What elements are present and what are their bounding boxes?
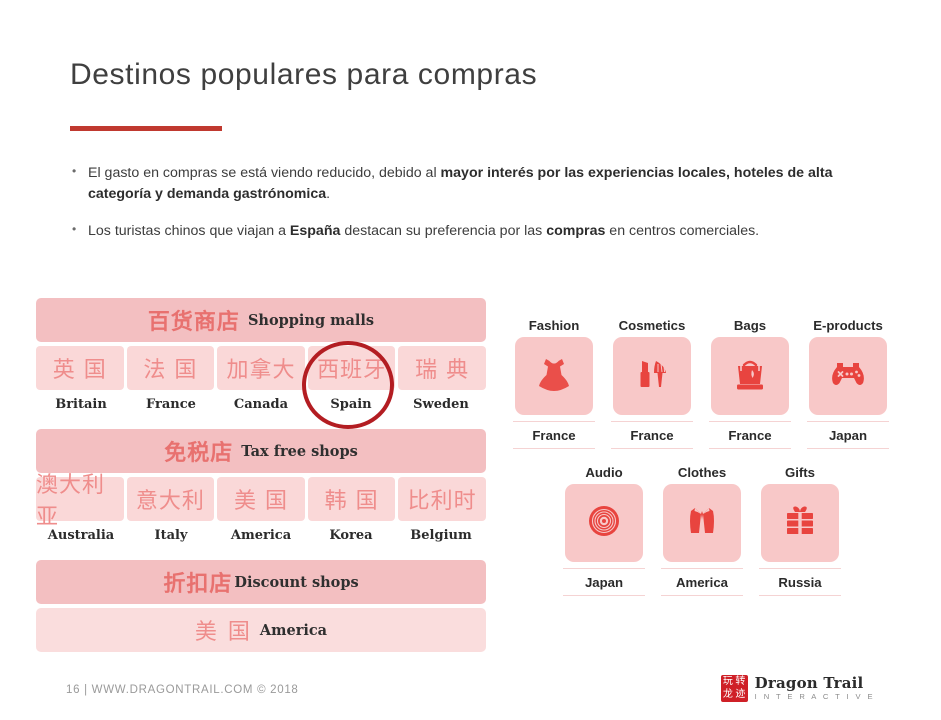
bag-icon	[727, 353, 773, 399]
dress-icon	[531, 353, 577, 399]
product-card-row-1: Fashion 时装商店 France Cosmetics	[505, 318, 935, 449]
cosmetics-icon	[629, 353, 675, 399]
bullet-bold-part: España	[290, 223, 340, 239]
row-spacer	[36, 412, 486, 429]
section-header-discount-shops: 折扣店 Discount shops	[36, 560, 486, 604]
section-header-cn: 百货商店	[148, 304, 240, 336]
section-header-shopping-malls: 百货商店 Shopping malls	[36, 298, 486, 342]
product-card-country: Russia	[759, 568, 841, 596]
product-card-country: America	[661, 568, 743, 596]
section-header-en: Tax free shops	[241, 443, 358, 460]
vinyl-record-icon	[581, 500, 627, 546]
country-label: Belgium	[396, 528, 486, 543]
discount-country-cn: 美 国	[195, 614, 252, 646]
discount-country-cell: 美 国 America	[36, 608, 486, 652]
gamepad-icon	[825, 353, 871, 399]
suit-icon	[679, 500, 725, 546]
title-accent-rule	[70, 126, 222, 131]
dragon-trail-seal-icon: 玩 转 龙 迹	[721, 675, 748, 702]
country-cell: 美 国	[217, 477, 305, 521]
product-card-title: Bags	[701, 318, 799, 333]
seal-char: 龙	[723, 690, 733, 700]
product-card-tile	[515, 337, 593, 415]
product-card-title: Clothes	[653, 465, 751, 480]
section-header-cn: 免税店	[164, 435, 233, 467]
product-card-e-products[interactable]: E-products 电子设备店 Japan	[799, 318, 897, 449]
country-cell: 法 国	[127, 346, 215, 390]
product-category-cards: Fashion 时装商店 France Cosmetics	[505, 318, 935, 596]
country-label-row: Australia Italy America Korea Belgium	[36, 528, 486, 543]
country-cell-row: 英 国 法 国 加拿大 西班牙 瑞 典	[36, 346, 486, 390]
product-card-tile	[809, 337, 887, 415]
country-label: Canada	[216, 397, 306, 412]
section-header-en: Shopping malls	[248, 312, 374, 329]
bullet-item: Los turistas chinos que viajan a España …	[70, 221, 870, 242]
bullet-item: El gasto en compras se está viendo reduc…	[70, 163, 870, 204]
bullet-text-part: .	[326, 186, 330, 202]
bullet-list: El gasto en compras se está viendo reduc…	[70, 163, 870, 259]
bullet-text-part: El gasto en compras se está viendo reduc…	[88, 165, 441, 181]
product-card-gifts[interactable]: Gifts 礼品 Russia	[751, 465, 849, 596]
shopping-destinations-table: 百货商店 Shopping malls 英 国 法 国 加拿大 西班牙 瑞 典 …	[36, 298, 486, 652]
company-logo: 玩 转 龙 迹 Dragon Trail I N T E R A C T I V…	[721, 675, 875, 702]
logo-tagline: I N T E R A C T I V E	[755, 693, 875, 701]
country-label-highlighted: Spain	[306, 397, 396, 412]
country-label: Australia	[36, 528, 126, 543]
bullet-text-part: Los turistas chinos que viajan a	[88, 223, 290, 239]
discount-country-en: America	[260, 622, 327, 639]
seal-char: 迹	[735, 690, 745, 700]
product-card-country: France	[513, 421, 595, 449]
country-cell: 澳大利亚	[36, 477, 124, 521]
product-card-tile	[663, 484, 741, 562]
bullet-text-part: en centros comerciales.	[605, 223, 759, 239]
country-cell: 加拿大	[217, 346, 305, 390]
country-cell-highlighted: 西班牙	[308, 346, 396, 390]
product-card-country: France	[611, 421, 693, 449]
product-card-bags[interactable]: Bags 箱包皮具店 France	[701, 318, 799, 449]
country-label: Korea	[306, 528, 396, 543]
seal-char: 玩	[723, 677, 733, 687]
product-card-title: Fashion	[505, 318, 603, 333]
product-card-tile	[711, 337, 789, 415]
country-cell: 瑞 典	[398, 346, 486, 390]
country-label: France	[126, 397, 216, 412]
bullet-bold-part: compras	[546, 223, 605, 239]
product-card-title: Gifts	[751, 465, 849, 480]
product-card-title: E-products	[799, 318, 897, 333]
product-card-cosmetics[interactable]: Cosmetics 化妆品店 France	[603, 318, 701, 449]
product-card-country: Japan	[563, 568, 645, 596]
gift-icon	[777, 500, 823, 546]
row-spacer	[36, 543, 486, 560]
logo-name: Dragon Trail	[755, 676, 875, 692]
country-label: Italy	[126, 528, 216, 543]
country-label: Britain	[36, 397, 126, 412]
country-cell: 韩 国	[308, 477, 396, 521]
product-card-tile	[613, 337, 691, 415]
bullet-text-part: destacan su preferencia por las	[340, 223, 546, 239]
product-card-audio[interactable]: Audio 音像制品 Japan	[555, 465, 653, 596]
product-card-title: Audio	[555, 465, 653, 480]
country-label-row: Britain France Canada Spain Sweden	[36, 397, 486, 412]
product-card-row-2: Audio 音像制品 Japan Clothes	[505, 465, 935, 596]
country-cell: 意大利	[127, 477, 215, 521]
product-card-tile	[761, 484, 839, 562]
product-card-fashion[interactable]: Fashion 时装商店 France	[505, 318, 603, 449]
country-cell: 比利时	[398, 477, 486, 521]
product-card-country: Japan	[807, 421, 889, 449]
page-title: Destinos populares para compras	[70, 58, 537, 92]
seal-char: 转	[735, 677, 745, 687]
product-card-country: France	[709, 421, 791, 449]
country-label: Sweden	[396, 397, 486, 412]
product-card-clothes[interactable]: Clothes 男女成衣店 America	[653, 465, 751, 596]
product-card-tile	[565, 484, 643, 562]
product-card-title: Cosmetics	[603, 318, 701, 333]
country-cell-row: 澳大利亚 意大利 美 国 韩 国 比利时	[36, 477, 486, 521]
section-header-en: Discount shops	[234, 574, 358, 591]
logo-wordmark: Dragon Trail I N T E R A C T I V E	[755, 676, 875, 701]
country-cell: 英 国	[36, 346, 124, 390]
footer-text: 16 | WWW.DRAGONTRAIL.COM © 2018	[66, 684, 299, 696]
section-header-cn: 折扣店	[163, 566, 232, 598]
country-label: America	[216, 528, 306, 543]
